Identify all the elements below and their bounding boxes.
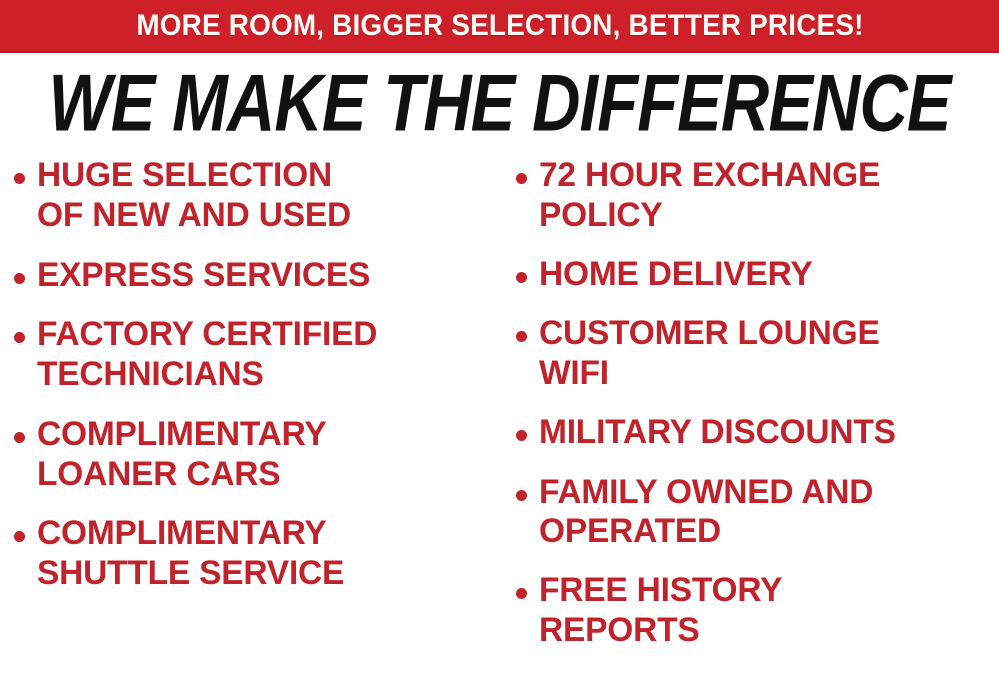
list-item-label: FAMILY OWNED AND OPERATED [539,473,873,553]
top-promo-banner: MORE ROOM, BIGGER SELECTION, BETTER PRIC… [0,0,999,53]
list-item-label: FACTORY CERTIFIED TECHNICIANS [37,315,377,395]
list-item: COMPLIMENTARY SHUTTLE SERVICE [14,514,500,594]
list-item-label: HOME DELIVERY [539,255,812,295]
bullet-dot-icon [516,173,527,184]
bullet-dot-icon [516,272,527,283]
bullet-dot-icon [14,173,25,184]
bullet-dot-icon [516,490,527,501]
benefits-column-left: HUGE SELECTION OF NEW AND USED EXPRESS S… [14,156,500,612]
bullet-dot-icon [516,430,527,441]
list-item: COMPLIMENTARY LOANER CARS [14,415,500,495]
bullet-dot-icon [14,432,25,443]
benefits-columns: HUGE SELECTION OF NEW AND USED EXPRESS S… [0,156,999,692]
bullet-dot-icon [516,331,527,342]
list-item-label: COMPLIMENTARY SHUTTLE SERVICE [37,514,344,594]
advertisement-banner: MORE ROOM, BIGGER SELECTION, BETTER PRIC… [0,0,999,692]
list-item-label: HUGE SELECTION OF NEW AND USED [37,156,351,236]
list-item-label: CUSTOMER LOUNGE WIFI [539,314,880,394]
bullet-dot-icon [14,332,25,343]
list-item: FREE HISTORY REPORTS [516,571,999,651]
list-item: FACTORY CERTIFIED TECHNICIANS [14,315,500,395]
list-item-label: MILITARY DISCOUNTS [539,413,896,453]
list-item: HOME DELIVERY [516,255,999,295]
main-headline: WE MAKE THE DIFFERENCE [48,64,950,145]
list-item: HUGE SELECTION OF NEW AND USED [14,156,500,236]
bullet-dot-icon [516,588,527,599]
list-item: CUSTOMER LOUNGE WIFI [516,314,999,394]
list-item-label: COMPLIMENTARY LOANER CARS [37,415,327,495]
list-item: EXPRESS SERVICES [14,256,500,296]
headline-container: WE MAKE THE DIFFERENCE [0,60,999,148]
benefits-column-right: 72 HOUR EXCHANGE POLICY HOME DELIVERY CU… [516,156,999,669]
list-item-label: 72 HOUR EXCHANGE POLICY [539,156,880,236]
promo-banner-text: MORE ROOM, BIGGER SELECTION, BETTER PRIC… [136,11,863,41]
list-item-label: FREE HISTORY REPORTS [539,571,782,651]
bullet-dot-icon [14,273,25,284]
list-item-label: EXPRESS SERVICES [37,256,370,296]
list-item: MILITARY DISCOUNTS [516,413,999,453]
bullet-dot-icon [14,531,25,542]
list-item: FAMILY OWNED AND OPERATED [516,473,999,553]
list-item: 72 HOUR EXCHANGE POLICY [516,156,999,236]
